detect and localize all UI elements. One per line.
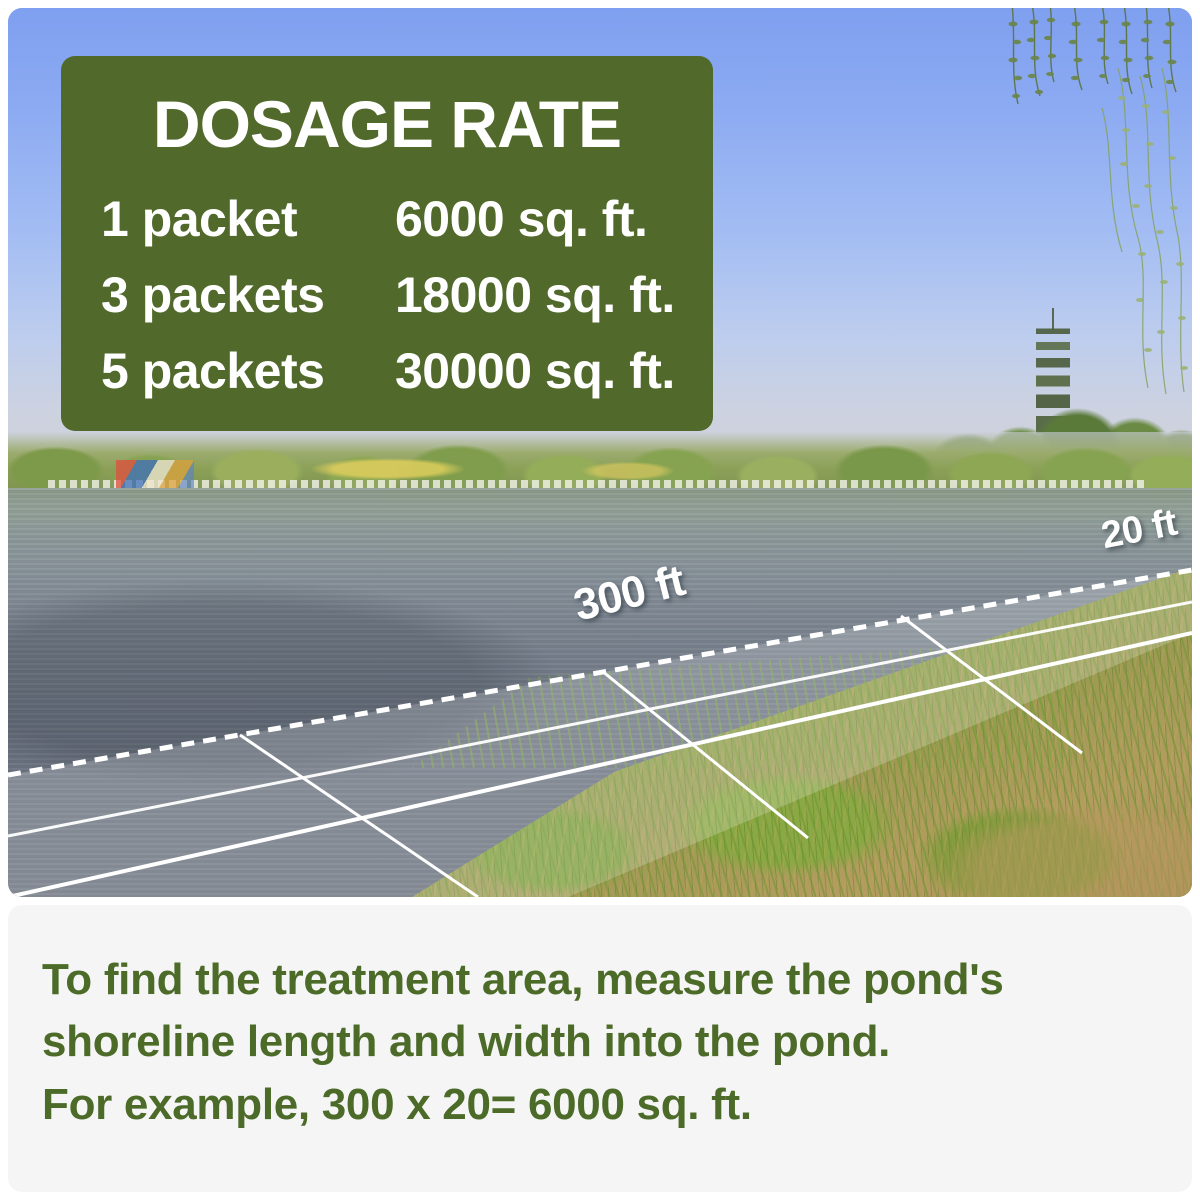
dosage-quantity: 5 packets (87, 333, 375, 409)
pond-photo-panel: 300 ft 20 ft DOSAGE RATE 1 packet 6000 s… (8, 8, 1192, 897)
yellow-blossom-patch (288, 456, 488, 482)
dosage-area: 6000 sq. ft. (375, 181, 687, 257)
caption-line-3: For example, 300 x 20= 6000 sq. ft. (42, 1074, 1158, 1136)
caption-line-1: To find the treatment area, measure the … (42, 949, 1158, 1011)
dosage-area: 30000 sq. ft. (375, 333, 687, 409)
dosage-rate-title: DOSAGE RATE (87, 90, 687, 159)
dosage-rate-card: DOSAGE RATE 1 packet 6000 sq. ft. 3 pack… (61, 56, 713, 431)
dosage-rate-table: 1 packet 6000 sq. ft. 3 packets 18000 sq… (87, 181, 687, 409)
yellow-blossom-patch-2 (568, 460, 688, 482)
playground-structure (116, 460, 194, 490)
table-row: 5 packets 30000 sq. ft. (87, 333, 687, 409)
dosage-quantity: 1 packet (87, 181, 375, 257)
infographic-page: 300 ft 20 ft DOSAGE RATE 1 packet 6000 s… (0, 0, 1200, 1200)
bare-dirt-patch (832, 747, 1192, 897)
table-row: 3 packets 18000 sq. ft. (87, 257, 687, 333)
dosage-area: 18000 sq. ft. (375, 257, 687, 333)
table-row: 1 packet 6000 sq. ft. (87, 181, 687, 257)
caption-line-2: shoreline length and width into the pond… (42, 1011, 1158, 1073)
caption-panel: To find the treatment area, measure the … (8, 905, 1192, 1192)
dosage-quantity: 3 packets (87, 257, 375, 333)
